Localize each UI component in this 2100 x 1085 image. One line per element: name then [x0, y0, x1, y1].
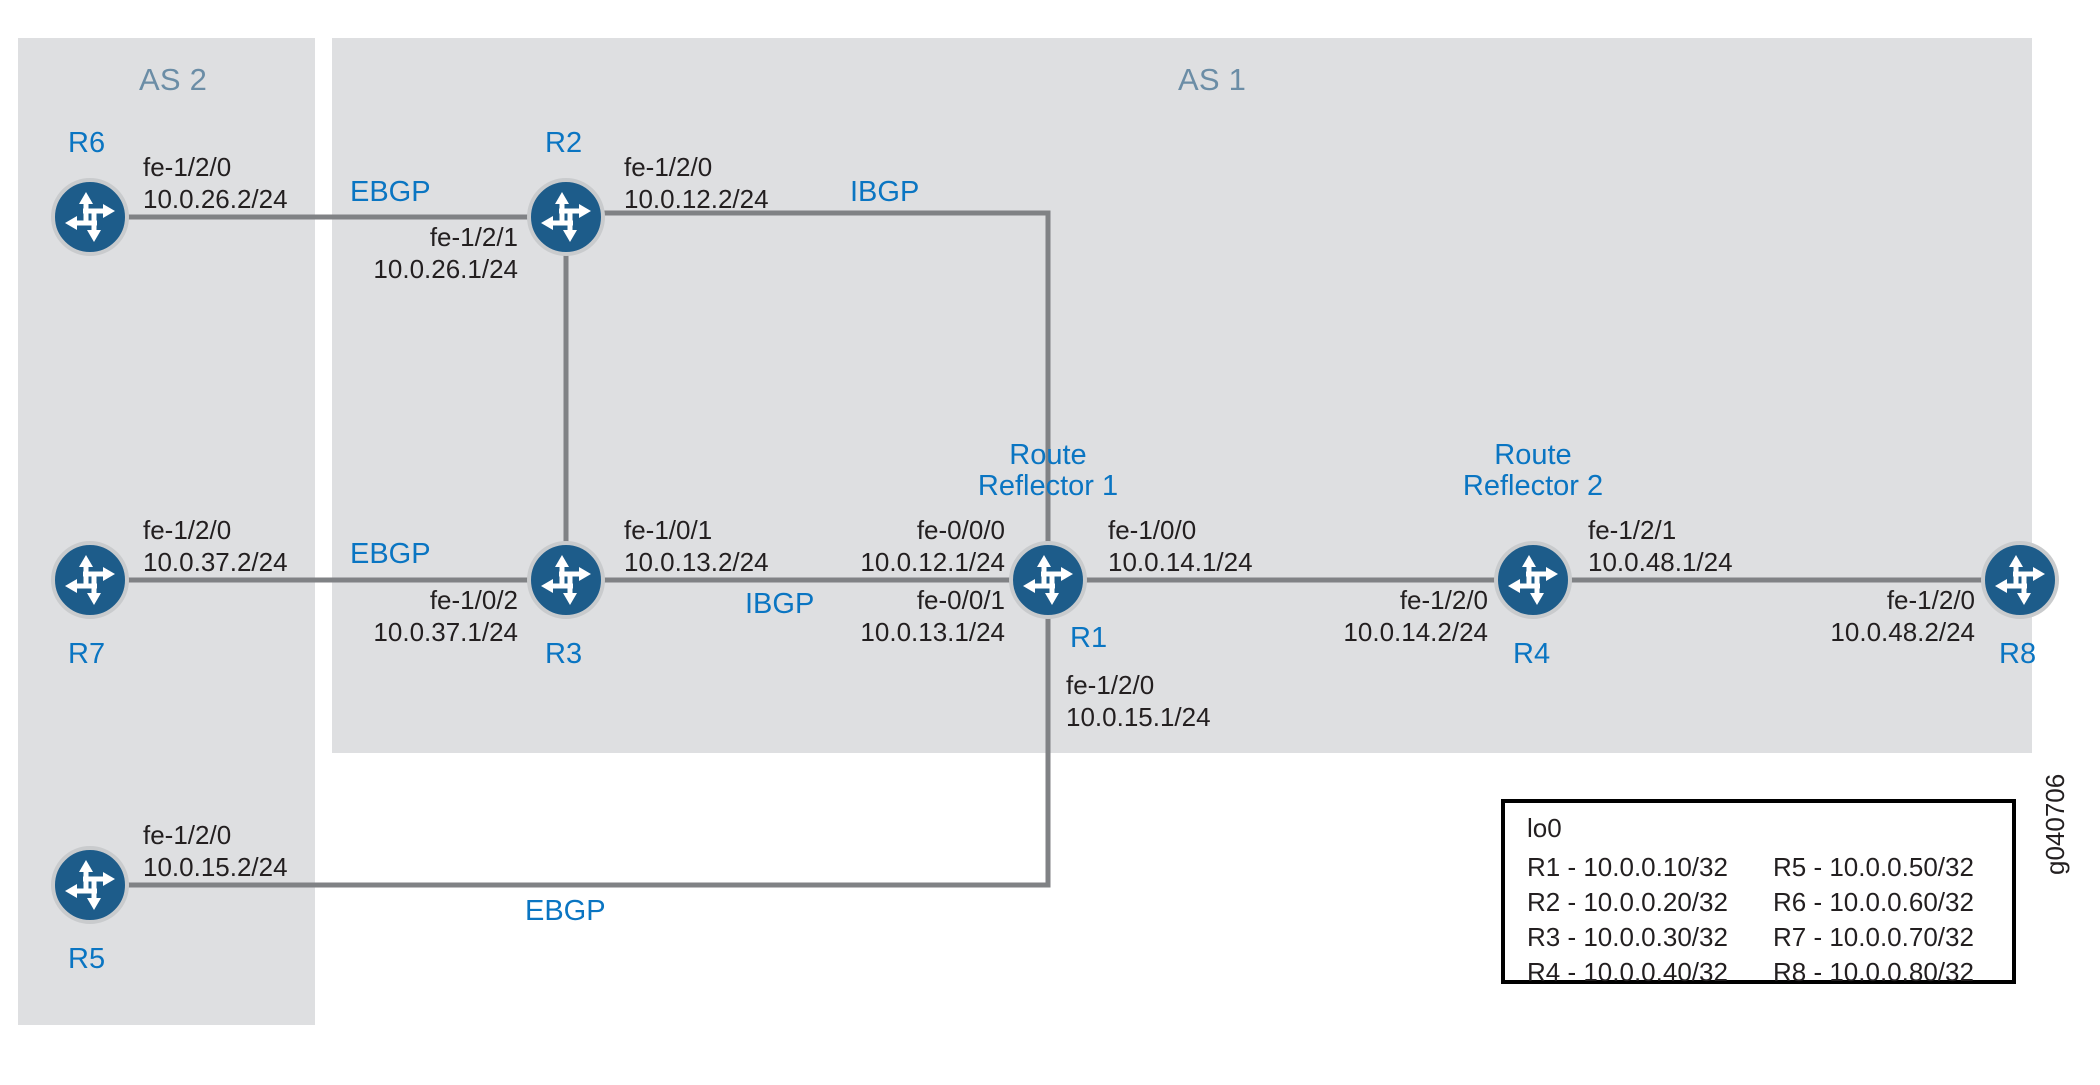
iface-address: 10.0.37.1/24 [355, 617, 518, 649]
legend-title: lo0 [1527, 813, 1562, 844]
legend-entry: R2 - 10.0.0.20/32 [1527, 885, 1728, 920]
router-label-r7: R7 [68, 638, 105, 671]
iface-name: fe-1/2/0 [143, 515, 288, 547]
router-arrows-icon [51, 178, 129, 256]
router-arrows-icon [51, 846, 129, 924]
iface-address: 10.0.12.2/24 [624, 184, 769, 216]
legend-entry: R8 - 10.0.0.80/32 [1773, 955, 1974, 990]
iface-label-r1-fe001: fe-0/0/1 10.0.13.1/24 [842, 585, 1005, 648]
router-arrows-icon [1494, 541, 1572, 619]
iface-address: 10.0.26.1/24 [363, 254, 518, 286]
iface-label-r2-fe121: fe-1/2/1 10.0.26.1/24 [363, 222, 518, 285]
legend-column-right: R5 - 10.0.0.50/32 R6 - 10.0.0.60/32 R7 -… [1773, 850, 1974, 990]
router-r1[interactable] [1009, 541, 1087, 619]
router-label-r6: R6 [68, 127, 105, 160]
iface-label-r1-fe100: fe-1/0/0 10.0.14.1/24 [1108, 515, 1253, 578]
iface-label-r4-fe120: fe-1/2/0 10.0.14.2/24 [1325, 585, 1488, 648]
iface-name: fe-1/0/0 [1108, 515, 1253, 547]
iface-name: fe-1/2/0 [143, 152, 288, 184]
iface-label-r3-fe102: fe-1/0/2 10.0.37.1/24 [355, 585, 518, 648]
iface-label-r8-fe120: fe-1/2/0 10.0.48.2/24 [1812, 585, 1975, 648]
iface-label-r1-fe120: fe-1/2/0 10.0.15.1/24 [1066, 670, 1211, 733]
iface-address: 10.0.48.2/24 [1812, 617, 1975, 649]
legend-entry: R5 - 10.0.0.50/32 [1773, 850, 1974, 885]
router-label-r3: R3 [545, 638, 582, 671]
diagram-canvas: AS 2 AS 1 [0, 0, 2100, 1085]
router-r5[interactable] [51, 846, 129, 924]
protocol-label-ibgp-r3-r1: IBGP [745, 588, 814, 621]
iface-name: fe-1/2/0 [1066, 670, 1211, 702]
iface-name: fe-1/2/1 [363, 222, 518, 254]
iface-address: 10.0.13.2/24 [624, 547, 769, 579]
protocol-label-ebgp-r6-r2: EBGP [350, 176, 431, 209]
iface-address: 10.0.15.2/24 [143, 852, 288, 884]
loopback-legend: lo0 R1 - 10.0.0.10/32 R2 - 10.0.0.20/32 … [1501, 799, 2016, 984]
iface-label-r4-fe121: fe-1/2/1 10.0.48.1/24 [1588, 515, 1733, 578]
protocol-label-ebgp-r5-r1: EBGP [525, 895, 606, 928]
router-arrows-icon [527, 178, 605, 256]
iface-name: fe-1/2/0 [1325, 585, 1488, 617]
iface-address: 10.0.48.1/24 [1588, 547, 1733, 579]
iface-name: fe-1/0/2 [355, 585, 518, 617]
router-role-r4-line1: Route [1433, 440, 1633, 471]
router-arrows-icon [527, 541, 605, 619]
router-role-r1: Route Reflector 1 [948, 440, 1148, 503]
figure-id-watermark: g040706 [2040, 774, 2071, 875]
iface-name: fe-0/0/0 [842, 515, 1005, 547]
iface-address: 10.0.14.2/24 [1325, 617, 1488, 649]
iface-name: fe-1/2/0 [1812, 585, 1975, 617]
protocol-label-ibgp-r2-r1: IBGP [850, 176, 919, 209]
iface-label-r2-fe120: fe-1/2/0 10.0.12.2/24 [624, 152, 769, 215]
legend-entry: R3 - 10.0.0.30/32 [1527, 920, 1728, 955]
router-label-r2: R2 [545, 127, 582, 160]
iface-label-r3-fe101: fe-1/0/1 10.0.13.2/24 [624, 515, 769, 578]
legend-entry: R6 - 10.0.0.60/32 [1773, 885, 1974, 920]
iface-name: fe-0/0/1 [842, 585, 1005, 617]
legend-entry: R4 - 10.0.0.40/32 [1527, 955, 1728, 990]
iface-address: 10.0.12.1/24 [842, 547, 1005, 579]
router-label-r5: R5 [68, 943, 105, 976]
iface-address: 10.0.13.1/24 [842, 617, 1005, 649]
router-label-r1: R1 [1070, 622, 1107, 655]
legend-entry: R1 - 10.0.0.10/32 [1527, 850, 1728, 885]
iface-label-r7-fe120: fe-1/2/0 10.0.37.2/24 [143, 515, 288, 578]
router-arrows-icon [51, 541, 129, 619]
router-r2[interactable] [527, 178, 605, 256]
iface-name: fe-1/0/1 [624, 515, 769, 547]
router-label-r8: R8 [1999, 638, 2036, 671]
iface-label-r6-fe120: fe-1/2/0 10.0.26.2/24 [143, 152, 288, 215]
legend-column-left: R1 - 10.0.0.10/32 R2 - 10.0.0.20/32 R3 -… [1527, 850, 1728, 990]
iface-address: 10.0.14.1/24 [1108, 547, 1253, 579]
router-label-r4: R4 [1513, 638, 1550, 671]
iface-name: fe-1/2/1 [1588, 515, 1733, 547]
router-role-r4-line2: Reflector 2 [1433, 471, 1633, 502]
protocol-label-ebgp-r7-r3: EBGP [350, 538, 431, 571]
iface-address: 10.0.15.1/24 [1066, 702, 1211, 734]
router-r7[interactable] [51, 541, 129, 619]
iface-name: fe-1/2/0 [143, 820, 288, 852]
router-role-r4: Route Reflector 2 [1433, 440, 1633, 503]
iface-name: fe-1/2/0 [624, 152, 769, 184]
legend-entry: R7 - 10.0.0.70/32 [1773, 920, 1974, 955]
iface-address: 10.0.37.2/24 [143, 547, 288, 579]
router-r3[interactable] [527, 541, 605, 619]
iface-address: 10.0.26.2/24 [143, 184, 288, 216]
router-role-r1-line1: Route [948, 440, 1148, 471]
router-r6[interactable] [51, 178, 129, 256]
router-role-r1-line2: Reflector 1 [948, 471, 1148, 502]
router-r8[interactable] [1981, 541, 2059, 619]
iface-label-r1-fe000: fe-0/0/0 10.0.12.1/24 [842, 515, 1005, 578]
router-r4[interactable] [1494, 541, 1572, 619]
iface-label-r5-fe120: fe-1/2/0 10.0.15.2/24 [143, 820, 288, 883]
router-arrows-icon [1981, 541, 2059, 619]
router-arrows-icon [1009, 541, 1087, 619]
